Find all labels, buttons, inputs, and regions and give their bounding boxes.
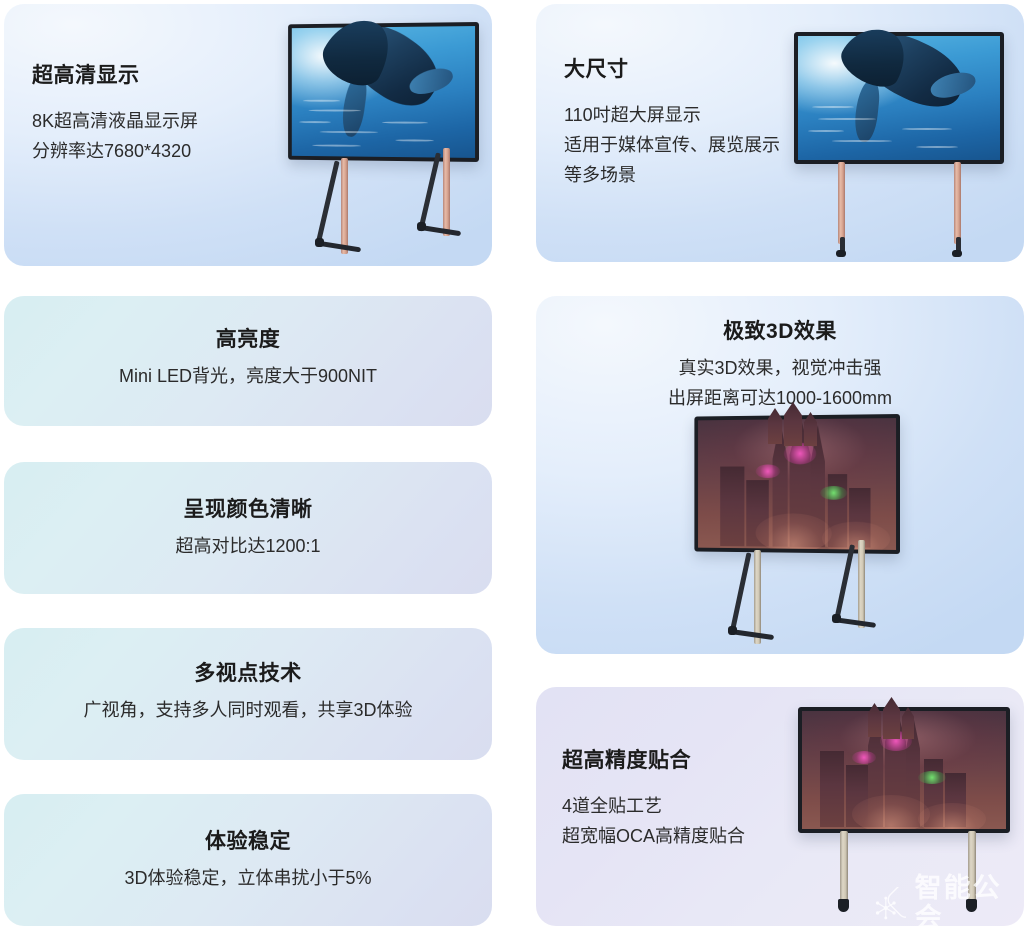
card-desc-line: 8K超高清液晶显示屏 [32, 106, 198, 136]
stand-pole [341, 158, 348, 254]
stand-pole [858, 540, 865, 628]
stand-caster [832, 614, 841, 623]
water-ripple [818, 118, 876, 120]
water-ripple [303, 100, 340, 102]
stand-caster [966, 899, 977, 912]
card-desc-line: 110吋超大屏显示 [564, 100, 780, 130]
card-ultra-hd-display: 超高清显示 8K超高清液晶显示屏 分辨率达7680*4320 [4, 4, 492, 266]
city-tower-popout [883, 697, 900, 739]
card-desc-line: 3D体验稳定，立体串扰小于5% [4, 863, 492, 893]
card-title: 体验稳定 [4, 828, 492, 856]
water-ripple [812, 106, 854, 108]
stand-pole [840, 831, 848, 903]
card-desc-line: 出屏距离可达1000-1600mm [536, 383, 1024, 413]
stand-leg [730, 552, 752, 633]
city-tv-illustration [684, 414, 900, 644]
card-desc-line: 超高对比达1200:1 [4, 531, 492, 561]
neon-glow-pink [852, 751, 876, 764]
stand-pole [954, 162, 961, 244]
card-desc-line: 分辨率达7680*4320 [32, 136, 198, 166]
stand-caster [836, 250, 846, 257]
stand-caster [728, 626, 737, 635]
smoke-plume [918, 803, 986, 833]
card-title: 超高精度贴合 [562, 747, 745, 775]
card-text-block: 呈现颜色清晰 超高对比达1200:1 [4, 496, 492, 561]
smoke-plume [756, 513, 832, 553]
card-desc-line: 等多场景 [564, 160, 780, 190]
whale-tv-illustration [794, 32, 1004, 257]
card-desc-line: 真实3D效果，视觉冲击强 [536, 353, 1024, 383]
card-ultimate-3d-effect: 极致3D效果 真实3D效果，视觉冲击强 出屏距离可达1000-1600mm [536, 296, 1024, 654]
card-multi-viewpoint: 多视点技术 广视角，支持多人同时观看，共享3D体验 [4, 628, 492, 760]
card-title: 超高清显示 [32, 62, 198, 90]
card-large-size: 大尺寸 110吋超大屏显示 适用于媒体宣传、展览展示 等多场景 [536, 4, 1024, 262]
city-tower-popout [768, 408, 782, 444]
stand-leg [834, 544, 855, 621]
stand-pole [443, 148, 450, 236]
feature-cards-page: 超高清显示 8K超高清液晶显示屏 分辨率达7680*4320 [0, 0, 1024, 934]
stand-pole [838, 162, 845, 244]
card-text-block: 超高精度贴合 4道全贴工艺 超宽幅OCA高精度贴合 [562, 747, 745, 851]
card-desc-line: 超宽幅OCA高精度贴合 [562, 821, 745, 851]
stand-caster [952, 250, 962, 257]
smoke-plume [822, 521, 890, 554]
card-title: 极致3D效果 [536, 318, 1024, 346]
card-text-block: 高亮度 Mini LED背光，亮度大于900NIT [4, 326, 492, 391]
card-text-block: 极致3D效果 真实3D效果，视觉冲击强 出屏距离可达1000-1600mm [536, 318, 1024, 413]
city-building [720, 466, 744, 546]
neon-glow-green [918, 771, 946, 784]
stand-pole [968, 831, 976, 903]
card-ultra-precision-bonding: 超高精度贴合 4道全贴工艺 超宽幅OCA高精度贴合 [536, 687, 1024, 926]
card-title: 呈现颜色清晰 [4, 496, 492, 524]
stand-leg [315, 161, 339, 246]
card-desc-line: 4道全贴工艺 [562, 791, 745, 821]
water-ripple [902, 128, 952, 130]
whale-tv-illustration [279, 22, 479, 262]
card-text-block: 大尺寸 110吋超大屏显示 适用于媒体宣传、展览展示 等多场景 [564, 56, 780, 190]
water-ripple [916, 146, 958, 148]
card-text-block: 体验稳定 3D体验稳定，立体串扰小于5% [4, 828, 492, 893]
city-building [820, 751, 844, 827]
stand-pole [754, 550, 761, 644]
stand-caster [417, 222, 426, 231]
card-text-block: 超高清显示 8K超高清液晶显示屏 分辨率达7680*4320 [32, 62, 198, 166]
water-ripple [832, 140, 892, 142]
card-stable-experience: 体验稳定 3D体验稳定，立体串扰小于5% [4, 794, 492, 926]
card-clear-color: 呈现颜色清晰 超高对比达1200:1 [4, 462, 492, 594]
stand-leg [418, 152, 441, 231]
card-desc-line: Mini LED背光，亮度大于900NIT [4, 361, 492, 391]
card-desc-line: 适用于媒体宣传、展览展示 [564, 130, 780, 160]
card-text-block: 多视点技术 广视角，支持多人同时观看，共享3D体验 [4, 660, 492, 725]
city-tv-illustration [798, 707, 1010, 922]
card-title: 大尺寸 [564, 56, 780, 84]
card-title: 高亮度 [4, 326, 492, 354]
stand-caster [838, 899, 849, 912]
card-high-brightness: 高亮度 Mini LED背光，亮度大于900NIT [4, 296, 492, 426]
neon-glow-green [820, 486, 847, 500]
card-title: 多视点技术 [4, 660, 492, 688]
water-ripple [808, 130, 844, 132]
stand-caster [315, 238, 324, 247]
card-desc-line: 广视角，支持多人同时观看，共享3D体验 [4, 695, 492, 725]
neon-glow-pink [756, 464, 780, 478]
